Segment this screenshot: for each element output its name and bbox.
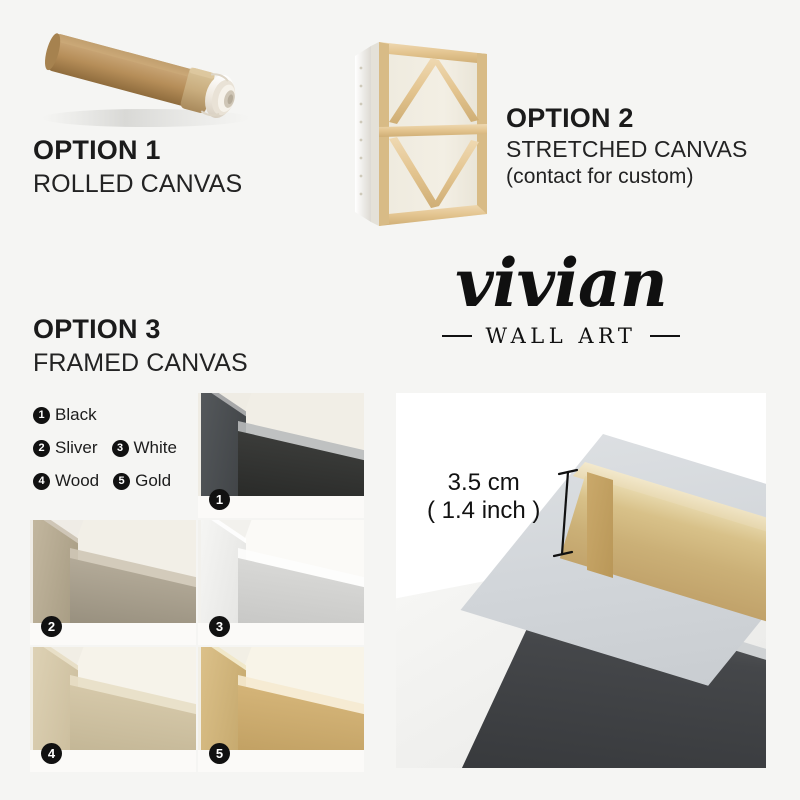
swatch-tile-wood[interactable]: 4 [30, 647, 196, 772]
rolled-canvas-tube-photo [36, 22, 258, 134]
legend-item-black[interactable]: 1 Black [33, 405, 97, 425]
dimension-bracket-icon [553, 468, 579, 558]
swatch-tile-sliver[interactable]: 2 [30, 520, 196, 645]
legend-badge-1: 1 [33, 407, 50, 424]
option-2-title: OPTION 2 [506, 104, 747, 132]
brand-tagline-row: WALL ART [396, 324, 726, 348]
gold-frame-left-end [587, 472, 613, 577]
option-2-subtitle: STRETCHED CANVAS [506, 137, 747, 163]
swatch-badge-2: 2 [41, 616, 62, 637]
legend-badge-2: 2 [33, 440, 50, 457]
swatch-tile-gold[interactable]: 5 [198, 647, 364, 772]
swatch-badge-1: 1 [209, 489, 230, 510]
depth-centimeters: 3.5 cm [427, 469, 540, 497]
stretched-canvas-back-photo [345, 24, 497, 238]
frame-depth-photo [396, 393, 766, 768]
legend-row: 2 Sliver 3 White [33, 438, 201, 458]
product-infographic: OPTION 1 ROLLED CANVAS [0, 0, 800, 800]
depth-inches: ( 1.4 inch ) [427, 497, 540, 525]
logo-dash-left-icon [442, 335, 472, 337]
legend-label-black: Black [55, 405, 97, 425]
legend-label-gold: Gold [135, 471, 171, 491]
option-1-text-block: OPTION 1 ROLLED CANVAS [33, 136, 242, 198]
frame-color-legend: 1 Black 2 Sliver 3 White 4 Wood 5 Gold [33, 405, 201, 504]
swatch-badge-3: 3 [209, 616, 230, 637]
legend-label-wood: Wood [55, 471, 99, 491]
swatch-tile-black[interactable]: 1 [198, 393, 364, 518]
legend-badge-3: 3 [112, 440, 129, 457]
legend-badge-4: 4 [33, 473, 50, 490]
brand-wordmark: vivian [396, 250, 726, 316]
option-1-title: OPTION 1 [33, 136, 242, 164]
option-2-text-block: OPTION 2 STRETCHED CANVAS (contact for c… [506, 104, 747, 188]
legend-label-sliver: Sliver [55, 438, 98, 458]
brand-tagline: WALL ART [486, 324, 637, 348]
option-3-title: OPTION 3 [33, 315, 248, 343]
option-2-note: (contact for custom) [506, 165, 747, 189]
brand-logo: vivian WALL ART [396, 250, 726, 348]
legend-item-wood[interactable]: 4 Wood [33, 471, 99, 491]
swatch-tile-white[interactable]: 3 [198, 520, 364, 645]
legend-item-white[interactable]: 3 White [112, 438, 177, 458]
swatch-badge-5: 5 [209, 743, 230, 764]
legend-row: 1 Black [33, 405, 201, 425]
legend-row: 4 Wood 5 Gold [33, 471, 201, 491]
option-3-subtitle: FRAMED CANVAS [33, 349, 248, 377]
frame-depth-label: 3.5 cm ( 1.4 inch ) [427, 469, 540, 526]
option-3-text-block: OPTION 3 FRAMED CANVAS [33, 315, 248, 377]
legend-item-sliver[interactable]: 2 Sliver [33, 438, 98, 458]
logo-dash-right-icon [650, 335, 680, 337]
legend-item-gold[interactable]: 5 Gold [113, 471, 171, 491]
legend-label-white: White [134, 438, 177, 458]
swatch-badge-4: 4 [41, 743, 62, 764]
option-1-subtitle: ROLLED CANVAS [33, 170, 242, 198]
legend-badge-5: 5 [113, 473, 130, 490]
